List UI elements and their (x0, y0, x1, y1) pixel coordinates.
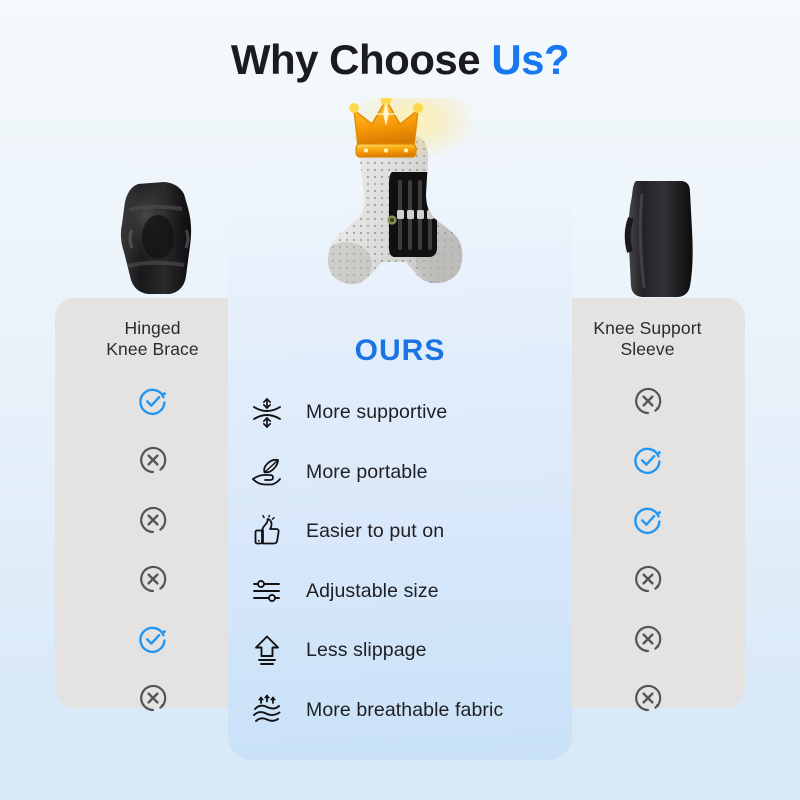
feature-label: Less slippage (290, 639, 427, 662)
check-icon (632, 444, 664, 476)
breathable-waves-icon (244, 693, 290, 727)
page-title-main: Why Choose (231, 36, 492, 83)
feature-label: Adjustable size (290, 580, 439, 603)
mark-row (55, 669, 250, 729)
mark-row (550, 431, 745, 491)
cross-icon (137, 504, 169, 536)
check-icon (137, 385, 169, 417)
mark-row (55, 609, 250, 669)
cross-icon (632, 682, 664, 714)
comparison-column-knee-support-sleeve: Knee Support Sleeve (550, 298, 745, 708)
ours-heading: OURS (228, 334, 572, 368)
comparison-column-hinged-knee-brace: Hinged Knee Brace (55, 298, 250, 708)
product-image-hinged-knee-brace (108, 180, 208, 303)
sliders-adjust-icon (244, 574, 290, 608)
feather-in-hand-icon (244, 455, 290, 489)
mark-row (550, 550, 745, 610)
mark-row (55, 490, 250, 550)
mark-list-left (55, 371, 250, 728)
mark-row (550, 669, 745, 729)
cross-icon (632, 563, 664, 595)
feature-label: Easier to put on (290, 520, 444, 543)
column-label-hinged-knee-brace: Hinged Knee Brace (55, 318, 250, 360)
cross-icon (137, 444, 169, 476)
feature-list: More supportive More portable (228, 383, 572, 740)
mark-row (550, 371, 745, 431)
mark-row (55, 371, 250, 431)
feature-row-more-breathable-fabric: More breathable fabric (228, 681, 572, 741)
cross-icon (137, 682, 169, 714)
column-label-knee-support-sleeve: Knee Support Sleeve (550, 318, 745, 360)
feature-label: More portable (290, 461, 428, 484)
feature-label: More breathable fabric (290, 699, 503, 722)
feature-label: More supportive (290, 401, 447, 424)
page-title: Why Choose Us? (0, 36, 800, 84)
compression-support-icon (244, 396, 290, 430)
feature-row-adjustable-size: Adjustable size (228, 562, 572, 622)
feature-row-easier-to-put-on: Easier to put on (228, 502, 572, 562)
check-icon (632, 504, 664, 536)
mark-row (55, 431, 250, 491)
cross-icon (632, 623, 664, 655)
feature-row-more-supportive: More supportive (228, 383, 572, 443)
mark-row (550, 490, 745, 550)
product-image-knee-support-sleeve (612, 178, 704, 305)
cross-icon (632, 385, 664, 417)
feature-row-less-slippage: Less slippage (228, 621, 572, 681)
thumbs-up-icon (244, 515, 290, 549)
mark-row (550, 609, 745, 669)
cross-icon (137, 563, 169, 595)
mark-row (55, 550, 250, 610)
page-title-accent: Us? (491, 36, 569, 83)
check-icon (137, 623, 169, 655)
mark-list-right (550, 371, 745, 728)
product-image-ours-brace-with-crown (296, 98, 506, 325)
up-arrow-grip-icon (244, 634, 290, 668)
feature-row-more-portable: More portable (228, 443, 572, 503)
